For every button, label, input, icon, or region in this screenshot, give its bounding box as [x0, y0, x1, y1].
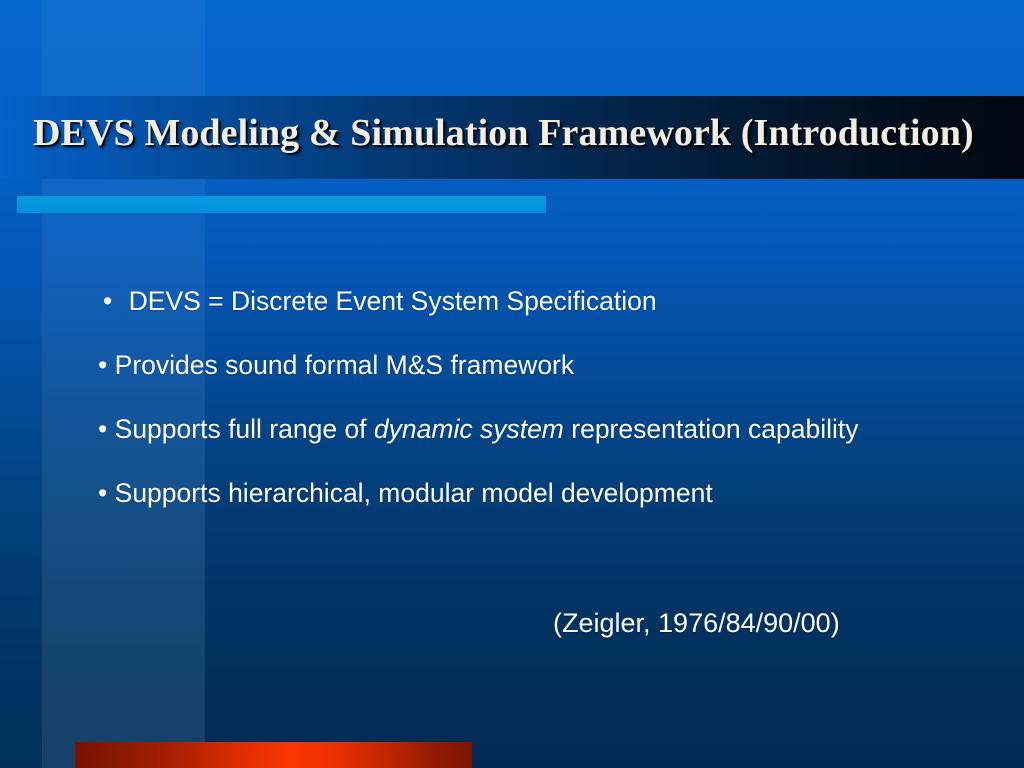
list-item: • Supports full range of dynamic system …	[98, 414, 998, 445]
citation-text: (Zeigler, 1976/84/90/00)	[553, 606, 840, 640]
bullet-list: • DEVS = Discrete Event System Specifica…	[98, 286, 998, 542]
bullet-text: Supports full range of	[107, 414, 374, 444]
accent-bar	[17, 196, 546, 213]
bullet-text: Supports hierarchical, modular model dev…	[107, 478, 712, 508]
presentation-slide: DEVS Modeling & Simulation Framework (In…	[0, 0, 1024, 768]
footer-accent-bar	[75, 742, 472, 768]
bullet-glyph: •	[103, 286, 112, 316]
list-item: • Provides sound formal M&S framework	[98, 350, 998, 381]
list-item: • DEVS = Discrete Event System Specifica…	[103, 286, 998, 317]
bullet-glyph: •	[98, 414, 107, 444]
bullet-text: DEVS = Discrete Event System Specificati…	[121, 286, 656, 316]
list-item: • Supports hierarchical, modular model d…	[98, 478, 998, 509]
bullet-glyph: •	[98, 350, 107, 380]
slide-title: DEVS Modeling & Simulation Framework (In…	[33, 110, 1023, 156]
bullet-text: representation capability	[564, 414, 859, 444]
bullet-glyph: •	[98, 478, 107, 508]
emphasized-text: dynamic system	[374, 414, 564, 444]
bullet-text: Provides sound formal M&S framework	[107, 350, 574, 380]
